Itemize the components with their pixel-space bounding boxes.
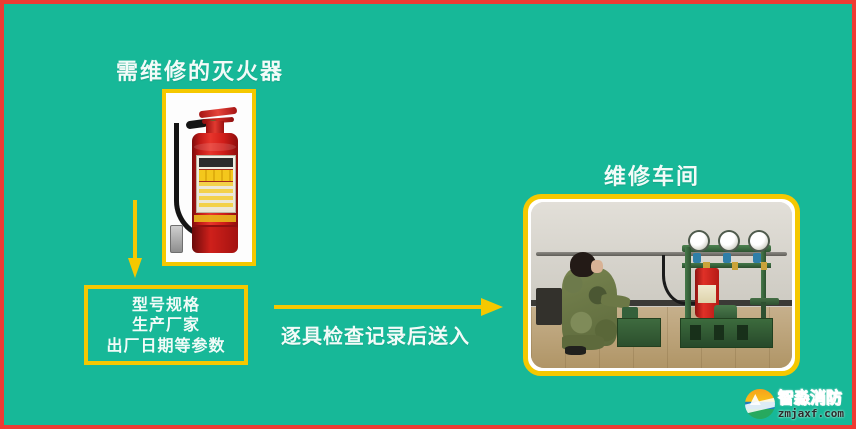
arrow-right-icon [274,298,504,316]
left-title: 需维修的灭火器 [116,54,284,86]
rack-base-slot-2 [714,325,724,340]
brand-logo-icon [745,389,775,419]
extinguisher-label-spec-rows [199,182,233,210]
extinguisher-nozzle [170,225,183,253]
extinguisher-label [196,155,236,213]
extinguisher-label-header [199,158,233,167]
extinguisher-highlight-ring [194,143,236,151]
rack-base-slot-3 [737,325,747,340]
watermark-url: zmjaxf.com [778,408,844,419]
rack-valve-2 [723,253,731,263]
parameter-line-3: 出厂日期等参数 [106,336,225,356]
rack-valve-3 [753,253,761,263]
watermark-text: 智淼消防 zmjaxf.com [778,390,844,419]
transfer-caption: 逐具检查记录后送入 [281,320,470,349]
slide-canvas: 需维修的灭火器 型号规格 生产厂家 出厂日期等 [0,0,856,429]
extinguisher-label-warning-band [199,169,233,182]
pump-machine [617,318,661,347]
rack-brass-fitting-2 [732,262,739,270]
rack-left-post [685,247,691,322]
extinguisher-base [192,225,238,253]
parameter-line-1: 型号规格 [132,295,200,315]
rack-valve-1 [693,253,701,263]
workshop-photo [523,194,800,376]
extinguisher-photo [162,89,256,266]
extinguisher-bottom-strip [194,215,236,222]
rack-extinguisher-label [698,285,716,303]
parameter-line-2: 生产厂家 [132,315,200,335]
extinguisher-photo-scene [166,93,252,262]
workshop-dark-equipment [536,288,562,325]
parameters-box: 型号规格 生产厂家 出厂日期等参数 [84,285,248,365]
rack-base-slot-1 [690,325,700,340]
right-title: 维修车间 [604,159,700,191]
arrow-down-icon [128,200,142,280]
rack-brass-fitting-3 [761,262,768,270]
worker-face [591,260,603,273]
watermark: 智淼消防 zmjaxf.com [745,389,844,419]
worker-shoe [565,346,586,354]
workshop-photo-scene [531,202,792,368]
watermark-brand: 智淼消防 [778,390,844,406]
